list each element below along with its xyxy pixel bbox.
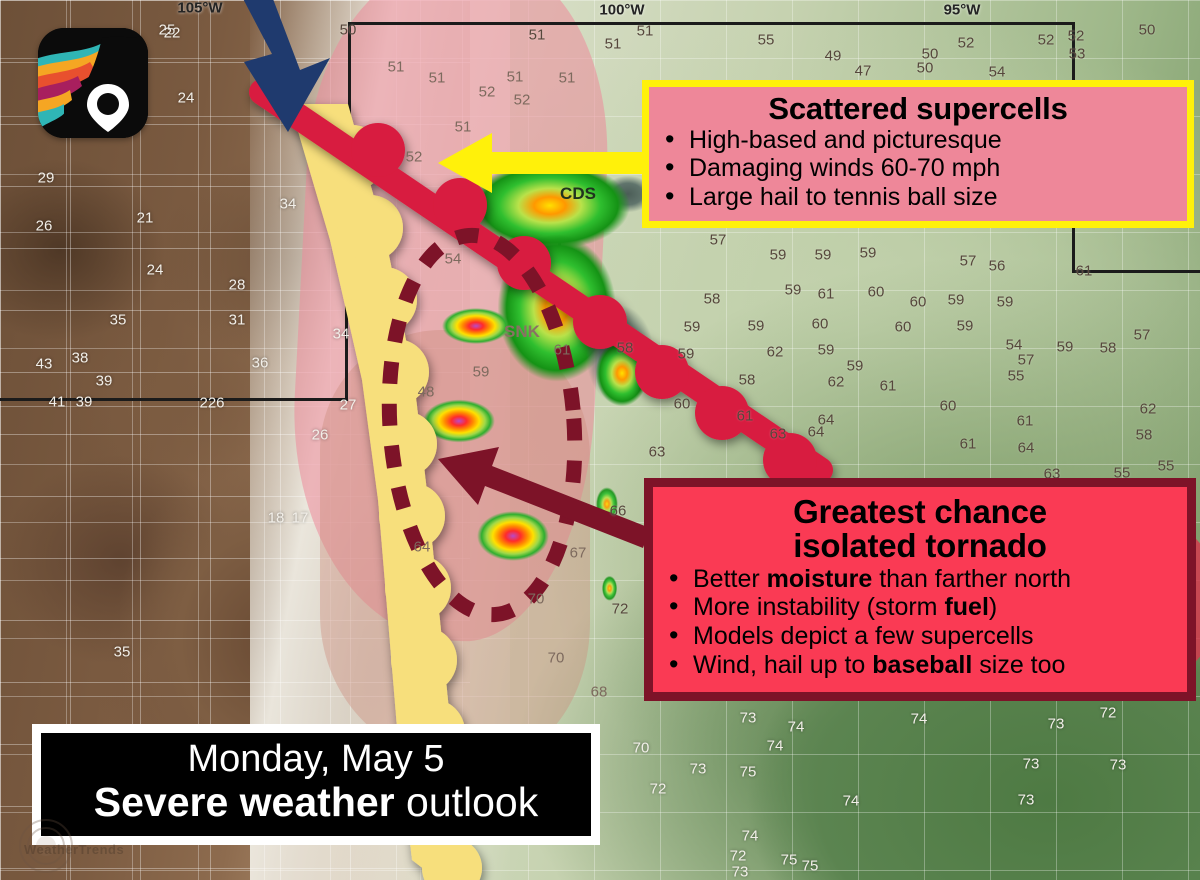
observation-value: 59 <box>1057 339 1074 356</box>
observation-value: 61 <box>737 408 754 425</box>
observation-value: 51 <box>559 70 576 87</box>
observation-value: 64 <box>808 424 825 441</box>
observation-value: 55 <box>1008 368 1025 385</box>
observation-value: 57 <box>1134 327 1151 344</box>
observation-value: 73 <box>1018 792 1035 809</box>
observation-value: 59 <box>847 358 864 375</box>
observation-value: 52 <box>479 84 496 101</box>
observation-value: 72 <box>730 848 747 865</box>
observation-value: 60 <box>868 284 885 301</box>
observation-value: 62 <box>767 344 784 361</box>
observation-value: 74 <box>911 711 928 728</box>
callout-scattered-supercells: Scattered supercells High-based and pict… <box>642 80 1194 228</box>
station-id-label: CDS <box>560 184 596 204</box>
observation-value: 73 <box>1110 757 1127 774</box>
callout-bullet-list: High-based and picturesque Damaging wind… <box>659 126 1177 211</box>
callout-heading: Greatest chance isolated tornado <box>663 495 1177 564</box>
list-item: Wind, hail up to baseball size too <box>663 651 1177 680</box>
observation-value: 53 <box>1069 46 1086 63</box>
observation-value: 72 <box>1100 705 1117 722</box>
observation-value: 61 <box>554 342 571 359</box>
observation-value: 73 <box>740 710 757 727</box>
observation-value: 49 <box>825 48 842 65</box>
observation-value: 27 <box>340 397 357 414</box>
observation-value: 24 <box>147 262 164 279</box>
observation-value: 52 <box>1068 28 1085 45</box>
observation-value: 74 <box>788 719 805 736</box>
observation-value: 59 <box>815 247 832 264</box>
observation-value: 35 <box>110 312 127 329</box>
observation-value: 51 <box>637 23 654 40</box>
severe-weather-outlook-graphic: 2522242926212428343531363843394139226263… <box>0 0 1200 880</box>
observation-value: 60 <box>895 319 912 336</box>
observation-value: 59 <box>860 245 877 262</box>
observation-value: 74 <box>742 828 759 845</box>
observation-value: 73 <box>1048 716 1065 733</box>
observation-value: 59 <box>748 318 765 335</box>
state-border-west <box>345 178 348 400</box>
callout-heading: Scattered supercells <box>659 93 1177 125</box>
observation-value: 35 <box>114 644 131 661</box>
observation-value: 34 <box>333 326 350 343</box>
observation-value: 31 <box>229 312 246 329</box>
callout-greatest-chance-tornado: Greatest chance isolated tornado Better … <box>644 478 1196 701</box>
list-item: High-based and picturesque <box>659 126 1177 154</box>
observation-value: 64 <box>414 539 431 556</box>
observation-value: 36 <box>252 355 269 372</box>
observation-value: 51 <box>429 70 446 87</box>
list-item: More instability (storm fuel) <box>663 593 1177 622</box>
observation-value: 59 <box>684 319 701 336</box>
observation-value: 73 <box>732 864 749 880</box>
observation-value: 57 <box>960 253 977 270</box>
observation-value: 50 <box>1139 22 1156 39</box>
observation-value: 60 <box>812 316 829 333</box>
observation-value: 70 <box>548 650 565 667</box>
lat-lon-label: 100°W <box>599 2 644 19</box>
observation-value: 52 <box>406 149 423 166</box>
observation-value: 61 <box>818 286 835 303</box>
observation-value: 58 <box>1136 427 1153 444</box>
observation-value: 22 <box>164 25 181 42</box>
observation-value: 50 <box>917 60 934 77</box>
observation-value: 59 <box>785 282 802 299</box>
observation-value: 34 <box>280 196 297 213</box>
observation-value: 72 <box>650 781 667 798</box>
observation-value: 61 <box>1076 263 1093 280</box>
observation-value: 58 <box>739 372 756 389</box>
observation-value: 74 <box>843 793 860 810</box>
observation-value: 51 <box>455 119 472 136</box>
observation-value: 64 <box>1018 440 1035 457</box>
observation-value: 41 <box>49 394 66 411</box>
observation-value: 52 <box>514 92 531 109</box>
observation-value: 63 <box>770 426 787 443</box>
state-border-panhandle-west <box>348 22 351 182</box>
observation-value: 59 <box>997 294 1014 311</box>
title-banner: Monday, May 5 Severe weather outlook <box>32 724 600 845</box>
observation-value: 56 <box>989 258 1006 275</box>
observation-value: 51 <box>507 69 524 86</box>
observation-value: 59 <box>957 318 974 335</box>
callout-heading-line1: Greatest chance <box>793 493 1047 530</box>
list-item: Large hail to tennis ball size <box>659 183 1177 211</box>
observation-value: 17 <box>292 510 309 527</box>
observation-value: 59 <box>948 292 965 309</box>
observation-value: 48 <box>418 384 435 401</box>
list-item: Damaging winds 60-70 mph <box>659 154 1177 182</box>
title-date: Monday, May 5 <box>57 739 575 780</box>
observation-value: 39 <box>96 373 113 390</box>
lat-lon-label: 95°W <box>944 2 981 19</box>
radar-supercell-3 <box>458 500 568 572</box>
observation-value: 75 <box>781 852 798 869</box>
weather-app-logo[interactable] <box>38 28 148 138</box>
observation-value: 28 <box>229 277 246 294</box>
observation-value: 59 <box>678 346 695 363</box>
observation-value: 60 <box>940 398 957 415</box>
observation-value: 38 <box>72 350 89 367</box>
callout-bullet-list: Better moisture than farther north More … <box>663 565 1177 680</box>
observation-value: 58 <box>1100 340 1117 357</box>
observation-value: 43 <box>36 356 53 373</box>
observation-value: 68 <box>591 684 608 701</box>
observation-value: 66 <box>610 503 627 520</box>
observation-value: 226 <box>199 395 224 412</box>
observation-value: 74 <box>767 738 784 755</box>
observation-value: 59 <box>473 364 490 381</box>
observation-value: 29 <box>38 170 55 187</box>
observation-value: 39 <box>76 394 93 411</box>
station-id-label: SNK <box>504 322 540 342</box>
observation-value: 62 <box>1140 401 1157 418</box>
observation-value: 60 <box>910 294 927 311</box>
observation-value: 52 <box>1038 32 1055 49</box>
observation-value: 18 <box>268 510 285 527</box>
observation-value: 54 <box>989 64 1006 81</box>
observation-value: 52 <box>958 35 975 52</box>
observation-value: 50 <box>340 22 357 39</box>
observation-value: 61 <box>1017 413 1034 430</box>
list-item: Better moisture than farther north <box>663 565 1177 594</box>
observation-value: 70 <box>633 740 650 757</box>
observation-value: 54 <box>445 251 462 268</box>
lat-lon-label: 105°W <box>177 0 222 17</box>
observation-value: 73 <box>1023 756 1040 773</box>
observation-value: 60 <box>674 396 691 413</box>
observation-value: 61 <box>880 378 897 395</box>
observation-value: 47 <box>855 63 872 80</box>
observation-value: 58 <box>704 291 721 308</box>
callout-heading-line2: isolated tornado <box>793 527 1047 564</box>
observation-value: 73 <box>690 761 707 778</box>
observation-value: 75 <box>802 858 819 875</box>
observation-value: 24 <box>178 90 195 107</box>
observation-value: 62 <box>828 374 845 391</box>
observation-value: 67 <box>570 545 587 562</box>
observation-value: 51 <box>605 36 622 53</box>
list-item: Models depict a few supercells <box>663 622 1177 651</box>
observation-value: 55 <box>1158 458 1175 475</box>
observation-value: 57 <box>1018 352 1035 369</box>
observation-value: 26 <box>36 218 53 235</box>
observation-value: 51 <box>388 59 405 76</box>
observation-value: 55 <box>758 32 775 49</box>
observation-value: 21 <box>137 210 154 227</box>
observation-value: 59 <box>770 247 787 264</box>
observation-value: 59 <box>818 342 835 359</box>
observation-value: 51 <box>529 27 546 44</box>
observation-value: 72 <box>612 601 629 618</box>
observation-value: 63 <box>649 444 666 461</box>
observation-value: 57 <box>710 232 727 249</box>
observation-value: 26 <box>312 427 329 444</box>
observation-value: 61 <box>960 436 977 453</box>
title-subject: Severe weather outlook <box>57 780 575 824</box>
logo-artwork <box>38 28 148 138</box>
observation-value: 70 <box>528 591 545 608</box>
state-border-north <box>348 22 1074 25</box>
observation-value: 75 <box>740 764 757 781</box>
observation-value: 58 <box>617 340 634 357</box>
